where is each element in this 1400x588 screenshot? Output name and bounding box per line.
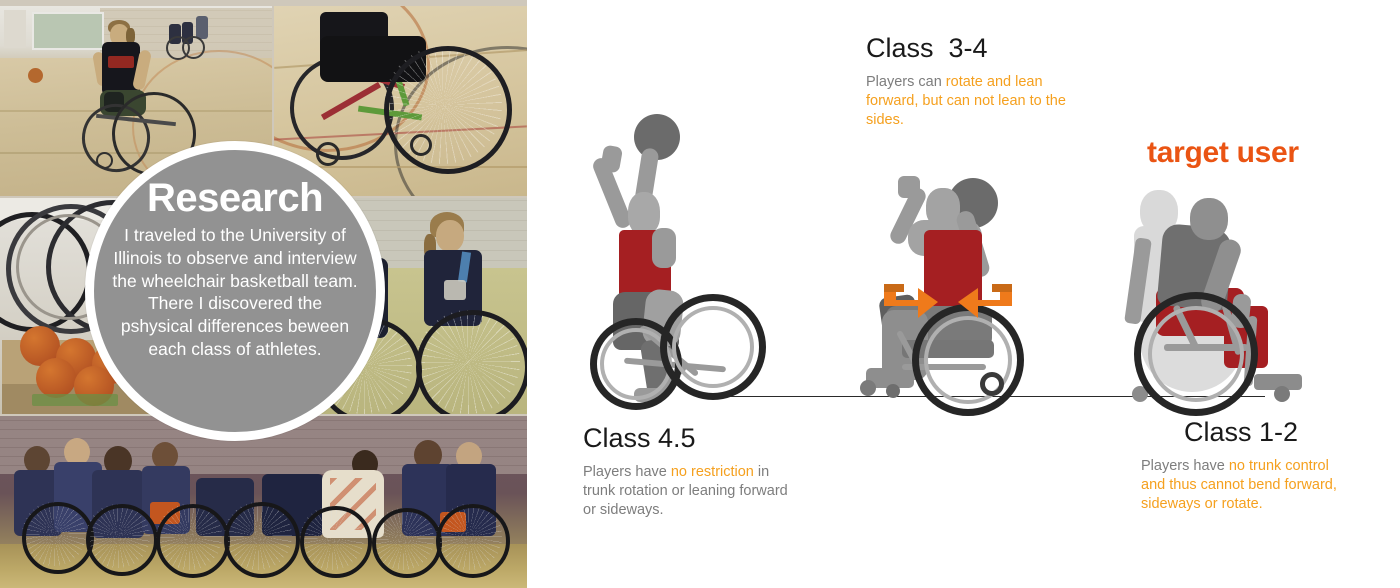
figure-class-3-4 bbox=[852, 168, 1052, 408]
target-user-label: target user bbox=[1147, 136, 1299, 170]
figure-class-1-2 bbox=[1128, 176, 1338, 408]
research-callout-circle: Research I traveled to the University of… bbox=[85, 141, 385, 441]
wheel-right bbox=[660, 294, 766, 400]
caster-wheel bbox=[886, 384, 900, 398]
rotation-arrow-right-icon bbox=[956, 276, 1018, 327]
wheel-main bbox=[1134, 292, 1258, 416]
class-1-2-title: Class 1-2 bbox=[1141, 418, 1341, 448]
head bbox=[1190, 198, 1228, 240]
figure-class-4-5 bbox=[586, 112, 766, 412]
caster-wheel bbox=[1274, 386, 1290, 402]
caster-wheel bbox=[860, 380, 876, 396]
caster-wheel bbox=[980, 372, 1004, 396]
class-4-5-desc-plain-1: Players have bbox=[583, 464, 671, 480]
class-1-2-desc-plain: Players have bbox=[1141, 458, 1229, 474]
photo-team bbox=[0, 416, 527, 588]
class-3-4-title: Class 3-4 bbox=[866, 34, 1066, 64]
class-3-4-description: Players can rotate and lean forward, but… bbox=[866, 73, 1066, 130]
class-1-2-block: Class 1-2 Players have no trunk control … bbox=[1141, 418, 1341, 514]
class-1-2-description: Players have no trunk control and thus c… bbox=[1141, 457, 1341, 514]
class-4-5-title: Class 4.5 bbox=[583, 424, 788, 454]
class-3-4-desc-plain: Players can bbox=[866, 74, 946, 90]
rotation-arrow-left-icon bbox=[878, 276, 940, 327]
class-4-5-desc-highlight: no restriction bbox=[671, 464, 754, 480]
class-4-5-block: Class 4.5 Players have no restriction in… bbox=[583, 424, 788, 520]
poster-canvas: Research I traveled to the University of… bbox=[0, 0, 1400, 588]
classification-diagram: Class 3-4 Players can rotate and lean fo… bbox=[527, 0, 1400, 588]
research-body-text: I traveled to the University of Illinois… bbox=[112, 224, 358, 361]
class-4-5-description: Players have no restriction in trunk rot… bbox=[583, 463, 788, 520]
research-title: Research bbox=[147, 178, 323, 218]
class-3-4-block: Class 3-4 Players can rotate and lean fo… bbox=[866, 34, 1066, 130]
photo-collage: Research I traveled to the University of… bbox=[0, 0, 527, 588]
shoulder bbox=[652, 228, 676, 268]
